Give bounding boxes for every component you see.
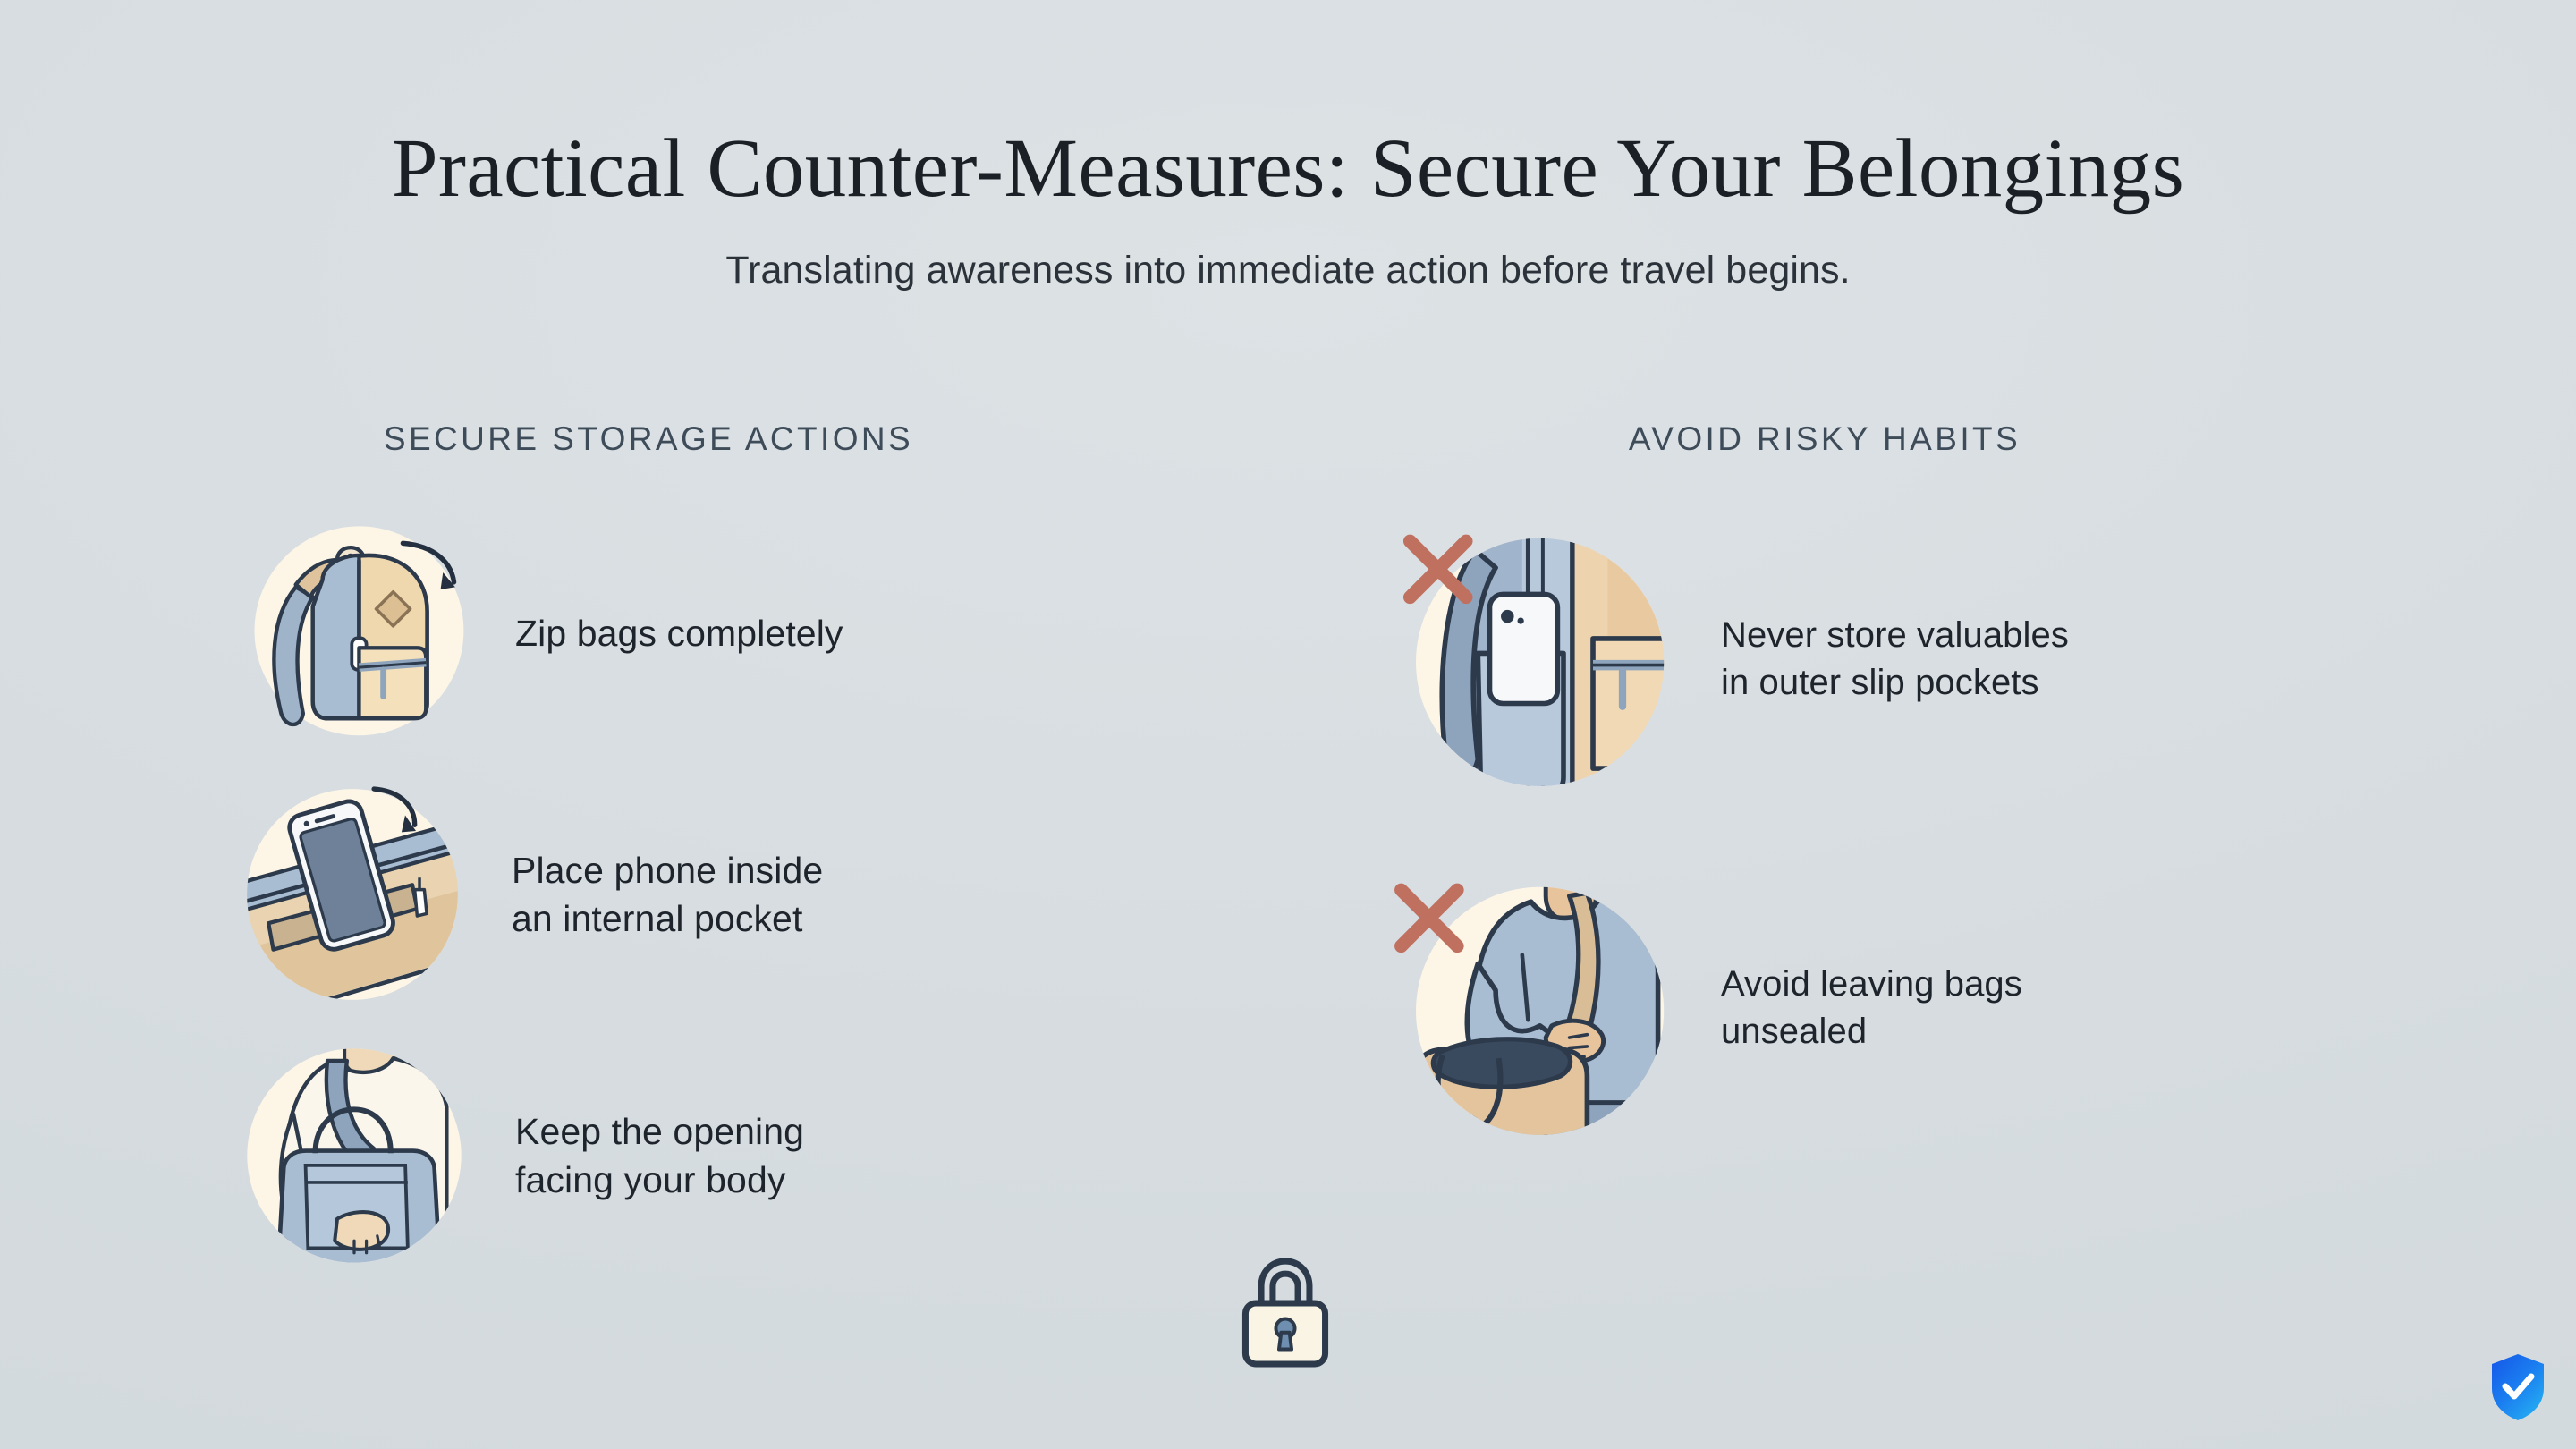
- list-item-label: Never store valuables in outer slip pock…: [1721, 612, 2069, 707]
- cross-mark: [1410, 541, 1466, 597]
- bag-facing-body-icon: [233, 1034, 476, 1277]
- phone-in-outer-pocket-icon: [1386, 512, 1682, 807]
- column-secure-storage-actions: SECURE STORAGE ACTIONS: [107, 420, 1288, 1297]
- list-item: Avoid leaving bags unsealed: [1288, 860, 2469, 1156]
- backpack-zipped-icon: [233, 512, 476, 755]
- page-subtitle: Translating awareness into immediate act…: [0, 249, 2576, 292]
- list-secure-actions: Zip bags completely: [107, 512, 1288, 1297]
- shield-check-badge-icon[interactable]: [2488, 1352, 2547, 1422]
- column-heading-left: SECURE STORAGE ACTIONS: [107, 420, 1288, 458]
- phone-into-pocket-icon: [233, 775, 472, 1014]
- list-item-label: Keep the opening facing your body: [515, 1107, 804, 1204]
- padlock-icon: [1233, 1249, 1338, 1370]
- column-avoid-risky-habits: AVOID RISKY HABITS: [1288, 420, 2469, 1297]
- column-heading-right: AVOID RISKY HABITS: [1288, 420, 2469, 458]
- list-risky-habits: Never store valuables in outer slip pock…: [1288, 512, 2469, 1209]
- list-item: Never store valuables in outer slip pock…: [1288, 512, 2469, 807]
- slide-header: Practical Counter-Measures: Secure Your …: [0, 0, 2576, 292]
- list-item-label: Avoid leaving bags unsealed: [1721, 961, 2022, 1055]
- list-item-label: Zip bags completely: [515, 609, 843, 657]
- cross-mark: [1402, 890, 1458, 946]
- list-item: Keep the opening facing your body: [107, 1034, 1288, 1277]
- page-title: Practical Counter-Measures: Secure Your …: [0, 125, 2576, 213]
- open-duffel-bag-icon: [1386, 860, 1682, 1156]
- content-columns: SECURE STORAGE ACTIONS: [0, 420, 2576, 1297]
- list-item: Zip bags completely: [107, 512, 1288, 755]
- list-item-label: Place phone inside an internal pocket: [512, 846, 823, 943]
- list-item: Place phone inside an internal pocket: [107, 775, 1288, 1014]
